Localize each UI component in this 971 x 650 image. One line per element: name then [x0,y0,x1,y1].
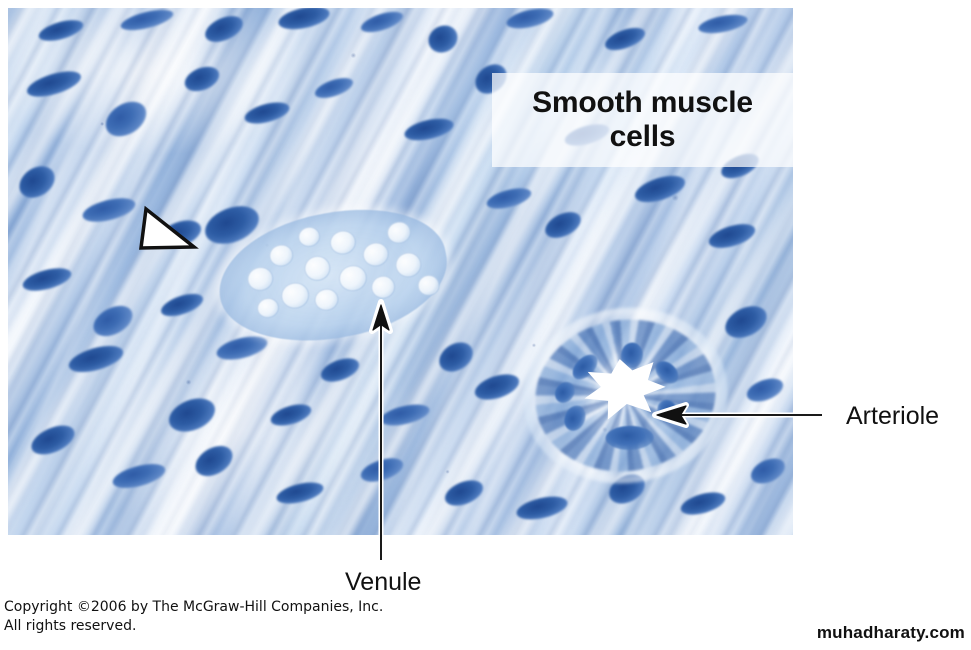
micrograph-plate: Smooth muscle cells [8,8,793,535]
arteriole-vessel [511,293,741,498]
copyright-notice: Copyright ©2006 by The McGraw-Hill Compa… [4,598,383,636]
venule-label: Venule [345,568,421,597]
smooth-muscle-label-box: Smooth muscle cells [492,73,793,167]
site-watermark: muhadharaty.com [817,623,965,643]
arteriole-label: Arteriole [846,402,939,431]
smooth-muscle-label-text: Smooth muscle cells [532,86,753,153]
